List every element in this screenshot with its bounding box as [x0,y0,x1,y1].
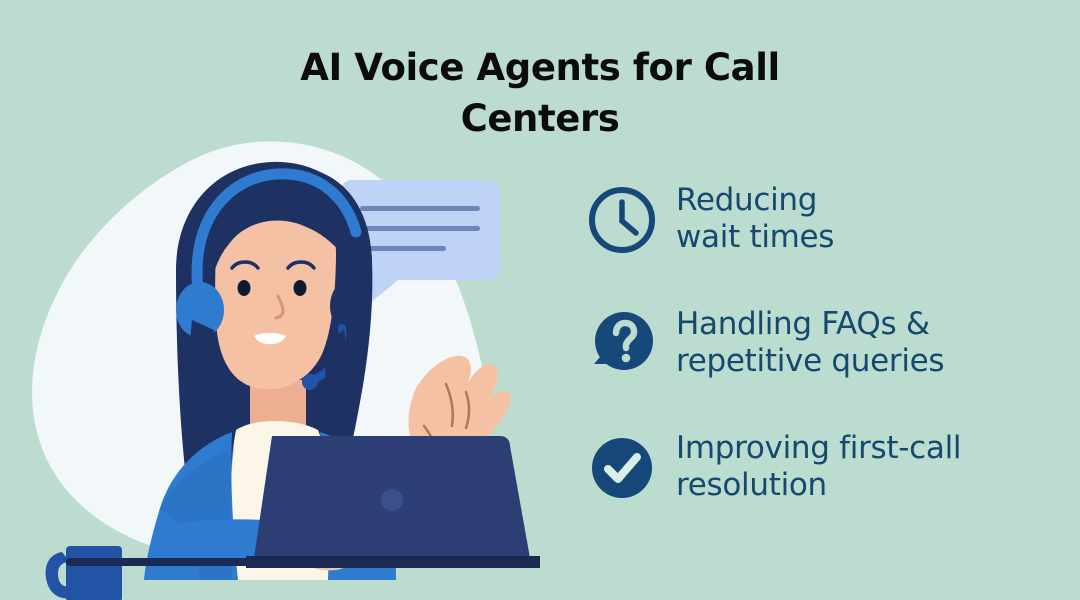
list-item-label: Handling FAQs & repetitive queries [676,302,1056,379]
list-item-label: Reducing wait times [676,178,1056,255]
list-item: Reducing wait times [586,178,1056,256]
question-speech-bubble-icon [586,308,658,380]
check-circle-icon [586,432,658,504]
laptop [246,436,540,568]
list-item: Improving first-call resolution [586,426,1056,504]
desk-line [66,558,526,566]
call-center-agent-illustration [0,140,560,600]
coffee-mug [46,546,122,600]
list-item: Handling FAQs & repetitive queries [586,302,1056,380]
page-title: AI Voice Agents for Call Centers [260,42,820,144]
clock-icon [586,184,658,256]
infographic-canvas: AI Voice Agents for Call Centers [0,0,1080,600]
benefits-list: Reducing wait times Handling FAQs & repe… [586,178,1056,504]
list-item-label: Improving first-call resolution [676,426,1056,503]
